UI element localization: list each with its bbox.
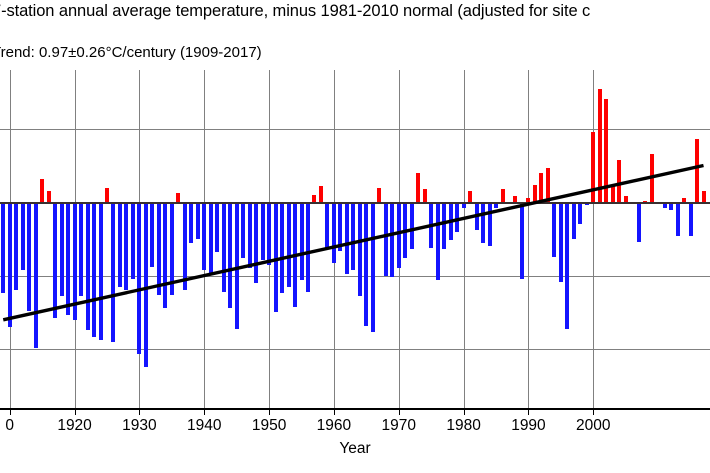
x-tick: [10, 408, 11, 415]
x-tick: [593, 408, 594, 415]
x-axis-line: [0, 408, 710, 410]
x-tick-label: 1940: [187, 417, 221, 435]
x-tick-label: 1950: [252, 417, 286, 435]
x-tick-label: 1970: [382, 417, 416, 435]
x-tick-label: 1990: [511, 417, 545, 435]
x-tick-label: 2000: [576, 417, 610, 435]
x-tick: [399, 408, 400, 415]
trend-line: [0, 70, 710, 408]
chart-title-text: 7-station annual average temperature, mi…: [0, 2, 590, 20]
x-tick-label: 1980: [446, 417, 480, 435]
x-tick-label: 1960: [317, 417, 351, 435]
x-tick-label: 1930: [122, 417, 156, 435]
x-tick: [269, 408, 270, 415]
x-axis-label: Year: [0, 440, 710, 458]
x-tick-label: 1920: [57, 417, 91, 435]
x-tick: [464, 408, 465, 415]
x-tick: [204, 408, 205, 415]
x-tick: [334, 408, 335, 415]
x-tick: [528, 408, 529, 415]
x-tick-label: 0: [5, 417, 14, 435]
trend-annotation: Trend: 0.97±0.26°C/century (1909-2017): [0, 44, 262, 61]
chart-figure: 7-station annual average temperature, mi…: [0, 0, 710, 473]
x-tick: [139, 408, 140, 415]
chart-title: 7-station annual average temperature, mi…: [0, 2, 710, 21]
x-tick: [75, 408, 76, 415]
plot-area: [0, 70, 710, 408]
